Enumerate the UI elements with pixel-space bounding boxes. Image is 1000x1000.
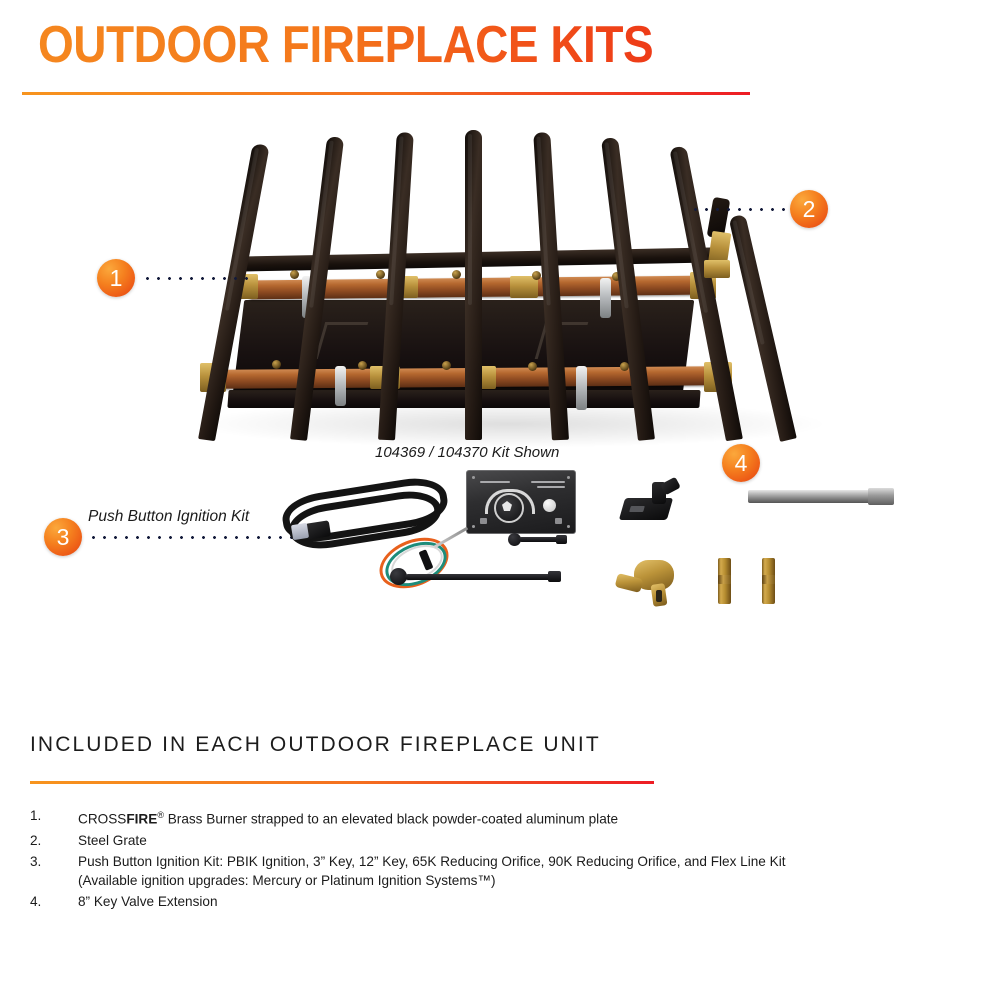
key-valve-extension-rod (748, 490, 894, 503)
item1-post: Brass Burner strapped to an elevated bla… (164, 812, 618, 827)
key-3-inch (508, 532, 570, 550)
gas-inlet-brass-nut (704, 260, 730, 278)
burner-strap-clamp-l1 (335, 366, 346, 406)
valve-label-plate (629, 506, 645, 512)
item1-bold: FIRE (126, 812, 157, 827)
list-item-subnote: (Available ignition upgrades: Mercury or… (78, 871, 970, 890)
panel-screw-bl (472, 525, 475, 528)
burner-port-l4 (528, 362, 537, 371)
list-item: 4. 8” Key Valve Extension (30, 892, 970, 911)
burner-port-u2 (376, 270, 385, 279)
brass-key-valve (616, 556, 690, 608)
hose-collar (291, 523, 309, 540)
callout-badge-2[interactable]: 2 (790, 190, 828, 228)
callout-badge-4[interactable]: 4 (722, 444, 760, 482)
item1-pre: CROSS (78, 812, 126, 827)
list-item-number: 4. (30, 892, 58, 911)
extension-hex-end (868, 488, 894, 505)
panel-info-label-1 (531, 481, 565, 483)
callout-badge-1[interactable]: 1 (97, 259, 135, 297)
grate-right-foot (728, 214, 796, 442)
list-item-text: 8” Key Valve Extension (78, 892, 970, 911)
panel-screw-br (567, 525, 570, 528)
ignition-wire-bundle (366, 534, 476, 596)
panel-badge-left (480, 518, 487, 524)
title-divider-rule (22, 92, 750, 95)
list-item: 2. Steel Grate (30, 831, 970, 850)
steel-grate-assembly (180, 100, 860, 440)
reducing-orifice-90k (762, 558, 775, 604)
panel-badge-right (555, 518, 562, 524)
reducing-orifice-65k (718, 558, 731, 604)
callout-badge-3[interactable]: 3 (44, 518, 82, 556)
list-item-number: 1. (30, 806, 58, 825)
burner-port-u1 (290, 270, 299, 279)
panel-screw-tl (472, 476, 475, 479)
burner-strap-clamp-u3 (600, 278, 611, 318)
included-divider-rule (30, 781, 654, 784)
item1-registered-mark: ® (157, 810, 164, 820)
orifice-90k-band (762, 575, 775, 584)
list-item-text: Push Button Ignition Kit: PBIK Ignition,… (78, 852, 970, 871)
callout-1-leader-line (142, 277, 254, 280)
grate-bar-4 (465, 130, 482, 440)
callout-2-leader-line (690, 208, 790, 211)
list-item-number: 3. (30, 852, 58, 871)
brass-valve-key-slot (656, 590, 662, 602)
key-12-inch (390, 566, 568, 586)
key-3-shaft (519, 537, 559, 542)
list-item-text: Steel Grate (78, 831, 970, 850)
ignition-kit-caption: Push Button Ignition Kit (88, 508, 249, 526)
panel-push-button[interactable] (543, 499, 556, 512)
list-item-text: CROSSFIRE® Brass Burner strapped to an e… (78, 806, 970, 829)
ignition-control-panel[interactable] (466, 470, 576, 534)
callout-3-leader-line (88, 536, 308, 539)
orifice-65k-band (718, 575, 731, 584)
page-title: OUTDOOR FIREPLACE KITS (38, 14, 653, 74)
kit-shown-caption: 104369 / 104370 Kit Shown (375, 444, 559, 461)
panel-info-label-2 (537, 486, 565, 488)
burner-port-l2 (358, 361, 367, 370)
included-section-heading: INCLUDED IN EACH OUTDOOR FIREPLACE UNIT (30, 733, 601, 757)
burner-port-u3 (452, 270, 461, 279)
panel-screw-tr (567, 476, 570, 479)
burner-port-l1 (272, 360, 281, 369)
included-items-list: 1. CROSSFIRE® Brass Burner strapped to a… (30, 806, 970, 913)
product-diagram: 104369 / 104370 Kit Shown 1 2 Push Butto… (0, 100, 1000, 620)
burner-port-l3 (442, 361, 451, 370)
black-valve-assembly (622, 480, 684, 526)
key-12-shaft (405, 574, 553, 580)
list-item-number: 2. (30, 831, 58, 850)
list-item: 3. Push Button Ignition Kit: PBIK Igniti… (30, 852, 970, 890)
key-12-tip (548, 571, 561, 582)
list-item: 1. CROSSFIRE® Brass Burner strapped to a… (30, 806, 970, 829)
key-3-tip (556, 535, 567, 544)
page-root: OUTDOOR FIREPLACE KITS (0, 0, 1000, 1000)
burner-strap-clamp-l2 (576, 366, 587, 410)
burner-port-u4 (532, 271, 541, 280)
panel-brand-label (480, 481, 510, 483)
